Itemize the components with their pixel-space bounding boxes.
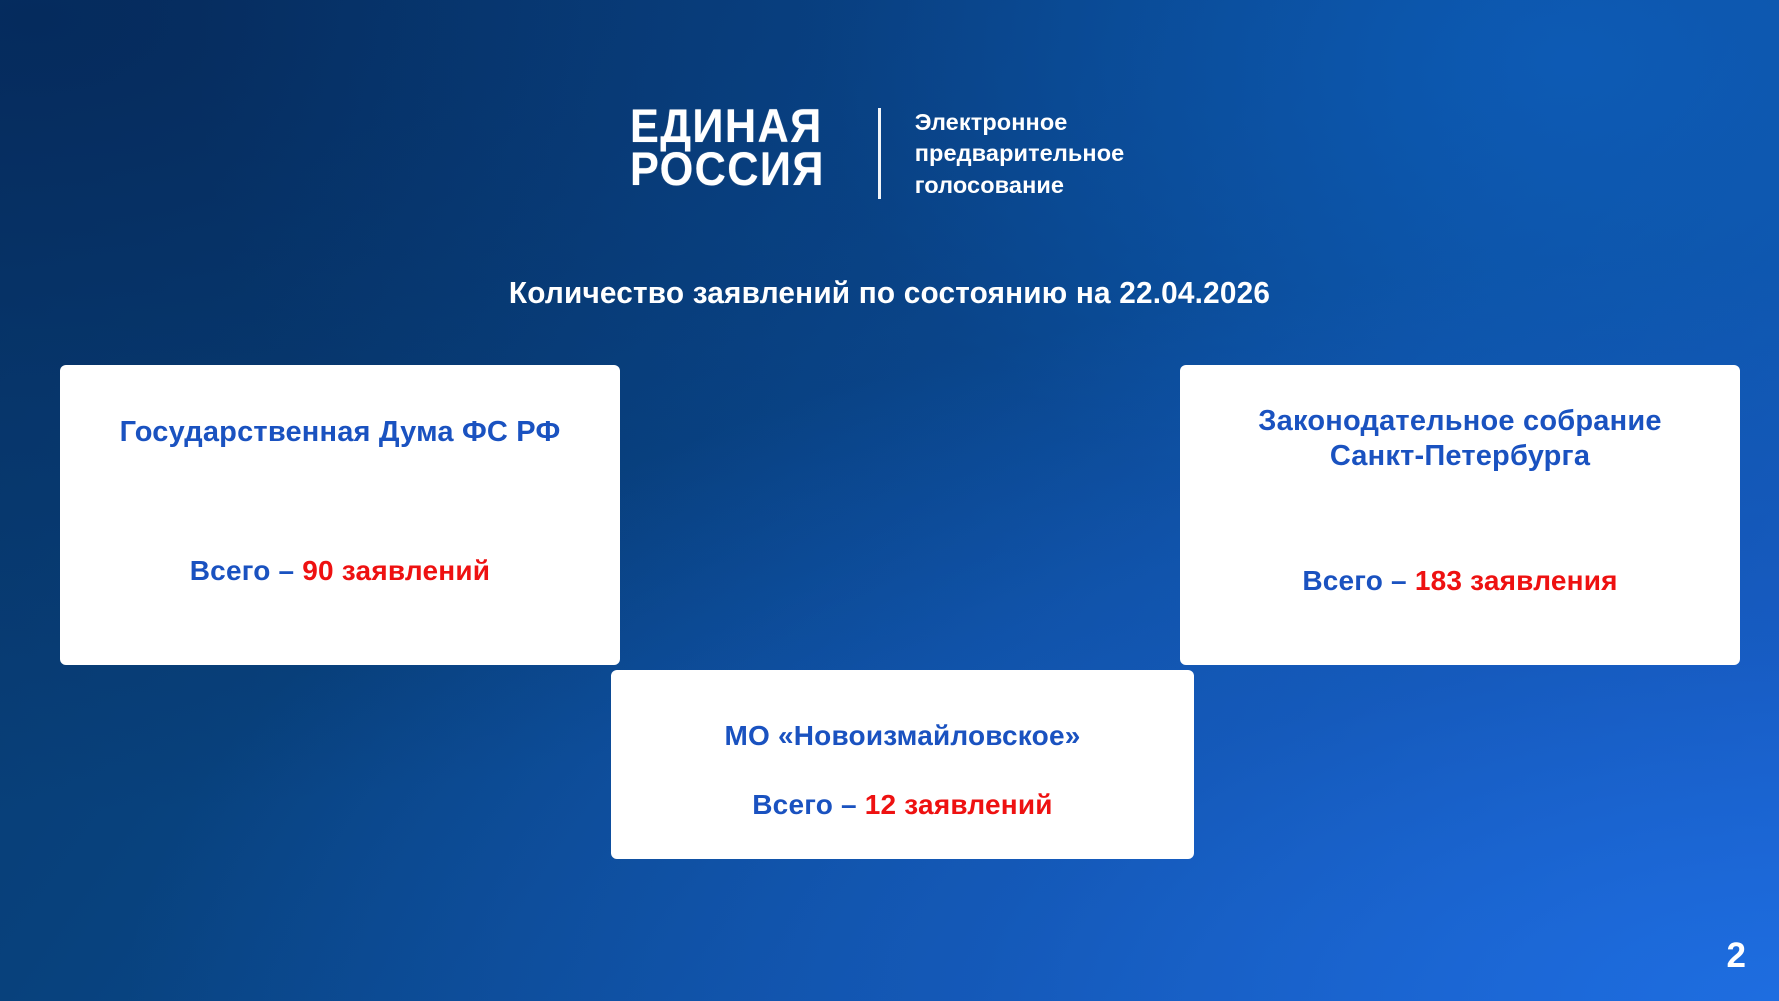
page-number: 2 — [1727, 938, 1746, 973]
total-unit: заявлений — [896, 789, 1052, 820]
united-russia-logo: ЕДИНАЯ РОССИЯ — [630, 104, 825, 190]
logo-line-2: РОССИЯ — [630, 147, 825, 190]
card-state-duma: Государственная Дума ФС РФ Всего – 90 за… — [60, 365, 620, 665]
total-label: Всего – — [1302, 565, 1415, 596]
card-municipality-total: Всего – 12 заявлений — [635, 788, 1170, 822]
card-state-duma-total: Всего – 90 заявлений — [84, 554, 596, 588]
card-municipality-title: МО «Новоизмайловское» — [635, 719, 1170, 753]
brand-divider — [878, 108, 881, 199]
card-legislative-assembly-title: Законодательное собрание Санкт-Петербург… — [1204, 404, 1716, 474]
total-unit: заявления — [1462, 565, 1618, 596]
card-municipality-novoizmaylovskoye: МО «Новоизмайловское» Всего – 12 заявлен… — [611, 670, 1194, 859]
total-label: Всего – — [752, 789, 865, 820]
card-title-line-1: Законодательное собрание — [1204, 404, 1716, 439]
total-label: Всего – — [190, 555, 303, 586]
slide-title: Количество заявлений по состоянию на 22.… — [36, 275, 1744, 311]
brand-lockup: ЕДИНАЯ РОССИЯ Электронное предварительно… — [630, 104, 1124, 201]
card-title-line-2: Санкт-Петербурга — [1204, 439, 1716, 474]
brand-subtitle-line-1: Электронное — [915, 107, 1125, 138]
card-legislative-assembly-total: Всего – 183 заявления — [1204, 564, 1716, 598]
brand-subtitle: Электронное предварительное голосование — [915, 104, 1125, 201]
total-count: 12 — [865, 789, 897, 820]
total-count: 183 — [1415, 565, 1462, 596]
brand-subtitle-line-2: предварительное — [915, 138, 1125, 169]
brand-subtitle-line-3: голосование — [915, 170, 1125, 201]
card-state-duma-title: Государственная Дума ФС РФ — [84, 415, 596, 450]
total-count: 90 — [302, 555, 334, 586]
total-unit: заявлений — [334, 555, 490, 586]
card-legislative-assembly: Законодательное собрание Санкт-Петербург… — [1180, 365, 1740, 665]
presentation-slide: ЕДИНАЯ РОССИЯ Электронное предварительно… — [0, 0, 1779, 1001]
